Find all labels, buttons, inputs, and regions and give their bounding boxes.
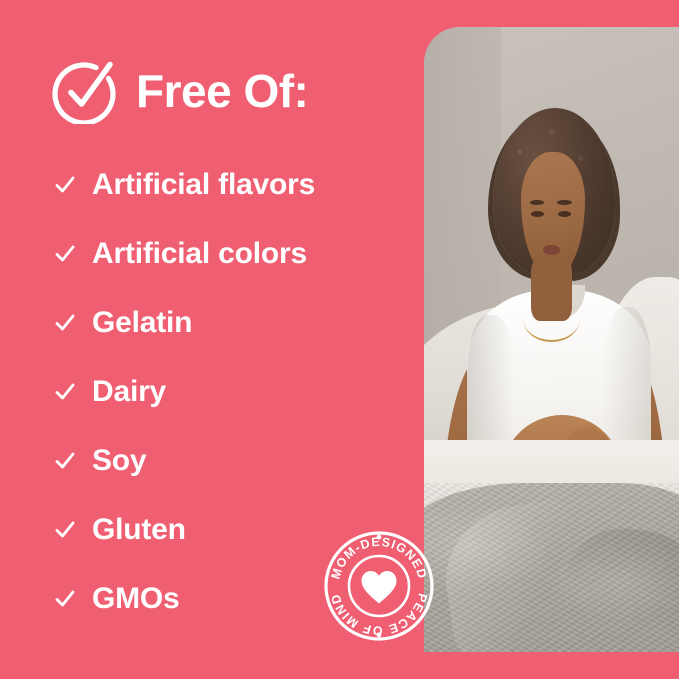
free-of-heading: Free Of: xyxy=(52,58,308,124)
list-item: Artificial colors xyxy=(54,219,414,288)
mom-designed-badge: MOM-DESIGNED PEACE OF MIND xyxy=(323,530,435,642)
badge-dot-separator xyxy=(377,535,382,540)
photo-eye-right xyxy=(558,211,571,217)
list-item-label: Gelatin xyxy=(92,308,192,338)
page-title: Free Of: xyxy=(136,68,308,114)
check-circle-icon xyxy=(52,58,118,124)
list-item-label: GMOs xyxy=(92,584,180,614)
checkmark-icon xyxy=(54,519,76,541)
list-item-label: Gluten xyxy=(92,515,186,545)
photo-eyebrow-right xyxy=(557,200,572,205)
photo-necklace xyxy=(523,296,579,342)
checkmark-icon xyxy=(54,174,76,196)
checkmark-icon xyxy=(54,381,76,403)
checkmark-icon xyxy=(54,243,76,265)
list-item-label: Soy xyxy=(92,446,146,476)
list-item: Dairy xyxy=(54,357,414,426)
badge-top-arc-text: MOM-DESIGNED xyxy=(329,535,430,581)
list-item: Gelatin xyxy=(54,288,414,357)
heart-icon xyxy=(362,571,397,604)
list-item: Soy xyxy=(54,426,414,495)
photo-knit-blanket xyxy=(424,483,679,652)
list-item-label: Artificial flavors xyxy=(92,170,315,200)
list-item: Artificial flavors xyxy=(54,150,414,219)
checkmark-icon xyxy=(54,450,76,472)
checkmark-icon xyxy=(54,588,76,610)
photo-lips xyxy=(543,245,561,255)
list-item-label: Dairy xyxy=(92,377,166,407)
product-feature-graphic: Free Of: Artificial flavors Artificial c… xyxy=(0,0,679,679)
badge-dot-separator xyxy=(377,632,382,637)
checkmark-icon xyxy=(54,312,76,334)
lifestyle-photo xyxy=(424,27,679,652)
list-item-label: Artificial colors xyxy=(92,239,307,269)
photo-eye-left xyxy=(531,211,544,217)
photo-eyebrow-left xyxy=(530,200,545,205)
